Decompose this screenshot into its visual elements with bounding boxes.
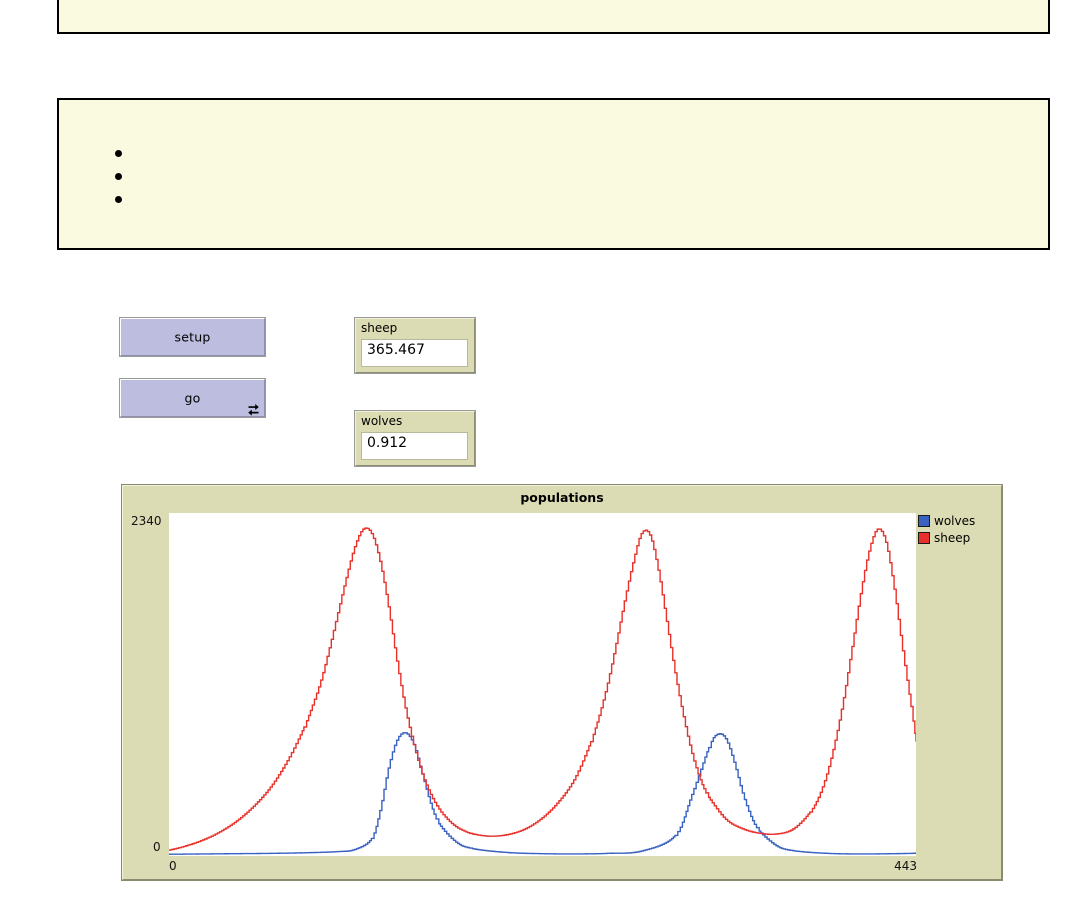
bullet-point-icon xyxy=(115,173,122,180)
legend-item-wolves: wolves xyxy=(918,512,998,529)
wolves-monitor-value: 0.912 xyxy=(361,432,468,460)
legend-swatch-sheep xyxy=(918,532,930,544)
list-item xyxy=(115,188,133,211)
list-item xyxy=(115,142,133,165)
note-box-top xyxy=(57,0,1050,34)
forever-loop-icon xyxy=(247,401,260,415)
wolves-monitor-label: wolves xyxy=(361,414,402,428)
plot-title: populations xyxy=(123,490,1001,505)
go-button-label: go xyxy=(121,391,264,406)
plot-series-svg xyxy=(169,513,916,856)
plot-canvas xyxy=(169,513,916,856)
sheep-monitor-label: sheep xyxy=(361,321,397,335)
plot-legend: wolves sheep xyxy=(918,512,998,546)
legend-label-sheep: sheep xyxy=(934,531,970,545)
sheep-monitor: sheep 365.467 xyxy=(355,318,475,373)
legend-swatch-wolves xyxy=(918,515,930,527)
x-axis-min-label: 0 xyxy=(169,859,177,873)
list-item xyxy=(115,165,133,188)
go-button[interactable]: go xyxy=(120,379,265,417)
sheep-monitor-value: 365.467 xyxy=(361,339,468,367)
plot-line-wolves xyxy=(169,733,916,854)
setup-button-label: setup xyxy=(121,330,264,345)
bullet-list xyxy=(115,142,133,211)
y-axis-max-label: 2340 xyxy=(131,514,162,528)
y-axis-min-label: 0 xyxy=(153,840,161,854)
populations-plot[interactable]: populations wolves sheep 2340 0 0 443 xyxy=(122,485,1002,880)
bullet-point-icon xyxy=(115,196,122,203)
wolves-monitor: wolves 0.912 xyxy=(355,411,475,466)
plot-line-sheep xyxy=(169,528,916,850)
legend-item-sheep: sheep xyxy=(918,529,998,546)
bullet-point-icon xyxy=(115,150,122,157)
legend-label-wolves: wolves xyxy=(934,514,975,528)
note-box-bullets xyxy=(57,98,1050,250)
x-axis-max-label: 443 xyxy=(894,859,917,873)
setup-button[interactable]: setup xyxy=(120,318,265,356)
